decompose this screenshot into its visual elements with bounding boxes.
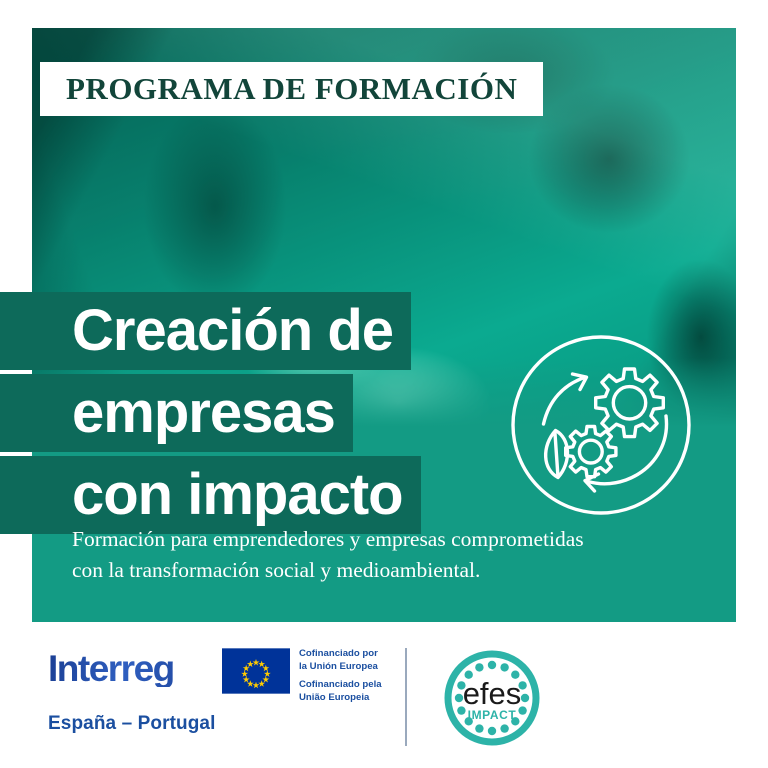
interreg-programme-label: España – Portugal <box>48 713 218 735</box>
headline-line-3: con impacto <box>0 456 421 534</box>
programme-badge-label: PROGRAMA DE FORMACIÓN <box>66 73 517 104</box>
efes-wordmark: efes <box>463 676 522 711</box>
interreg-wordmark: Interreg <box>48 650 218 687</box>
eu-cofunding-text: Cofinanciado por la Unión Europea Cofina… <box>299 648 382 704</box>
headline: Creación de empresas con impacto <box>0 292 421 538</box>
european-union-flag <box>222 648 290 694</box>
poster: PROGRAMA DE FORMACIÓN Creación de empres… <box>0 0 768 768</box>
eu-text-es-line-1: Cofinanciado por <box>299 648 382 661</box>
arrow-up-right-icon <box>544 374 587 424</box>
eu-text-pt-line-1: Cofinanciado pela <box>299 679 382 692</box>
efes-impact-logo: efes IMPACT <box>440 646 544 750</box>
sustainable-innovation-icon <box>508 332 694 518</box>
eu-text-es-line-2: la Unión Europea <box>299 661 382 674</box>
interreg-logo: Interreg España – Portugal <box>48 650 218 735</box>
small-gear-icon <box>566 427 616 477</box>
subtitle-line-2: con la transformación social y medioambi… <box>72 555 672 586</box>
footer: Interreg España – Portugal <box>0 622 768 768</box>
subtitle-line-1: Formación para emprendedores y empresas … <box>72 524 672 555</box>
footer-divider <box>405 648 407 746</box>
large-gear-icon <box>596 369 664 437</box>
eu-cofunding-logo: Cofinanciado por la Unión Europea Cofina… <box>222 648 382 704</box>
icon-circle-outline <box>513 337 689 513</box>
headline-line-1: Creación de <box>0 292 411 370</box>
efes-tagline: IMPACT <box>468 708 517 722</box>
subtitle: Formación para emprendedores y empresas … <box>72 524 672 586</box>
programme-badge: PROGRAMA DE FORMACIÓN <box>40 62 543 116</box>
headline-line-2: empresas <box>0 374 353 452</box>
eu-text-pt-line-2: União Europeia <box>299 692 382 705</box>
